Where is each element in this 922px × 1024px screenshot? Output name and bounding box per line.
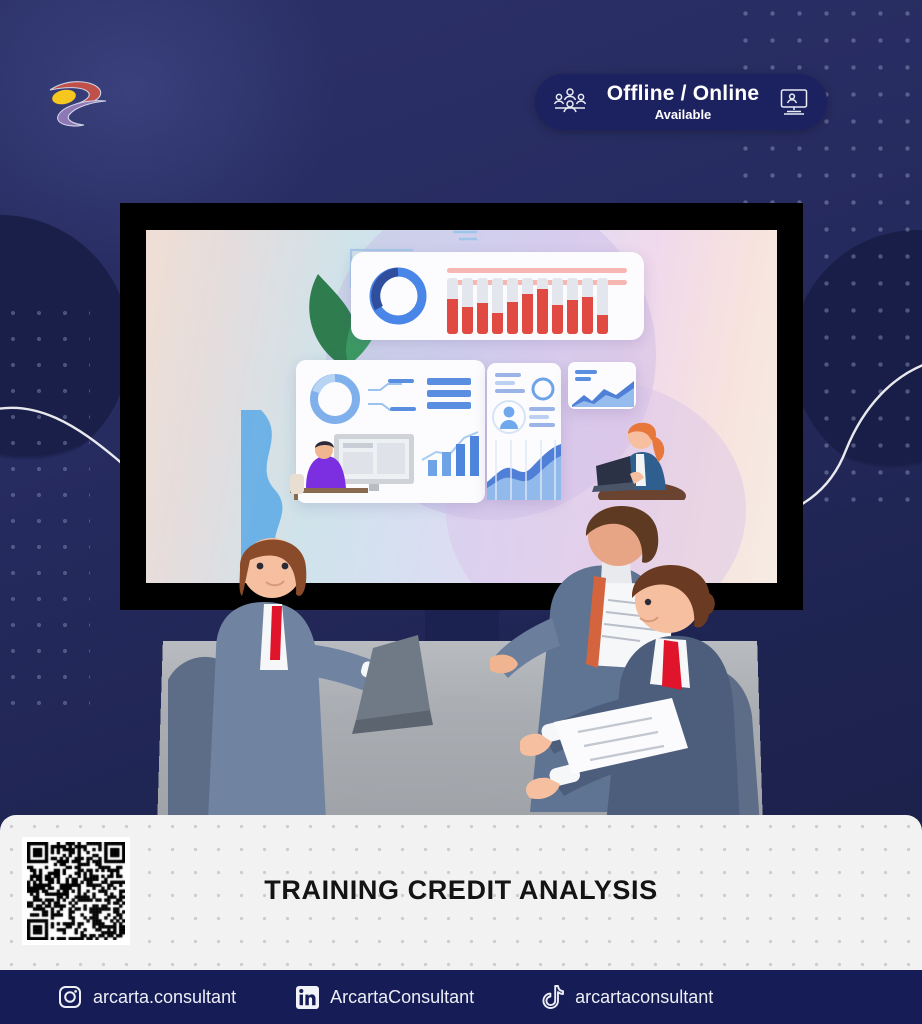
stat-line-2 <box>495 381 515 385</box>
badge-line-2: Available <box>587 108 779 122</box>
bar-segment-red <box>477 303 488 334</box>
stat-line-1 <box>495 373 521 377</box>
monitor-bezel-right <box>777 203 803 610</box>
bar-segment-grey <box>582 278 593 297</box>
legend-bar-1 <box>388 379 414 383</box>
bar-segment-grey <box>492 278 503 313</box>
bar-segment-red <box>462 307 473 334</box>
analytics-dashboard-card <box>296 360 485 503</box>
bar-segment-red <box>552 305 563 334</box>
bar-segment-red <box>597 315 608 334</box>
bar-segment-grey <box>537 278 548 289</box>
bar-segment-red <box>492 313 503 334</box>
stat-line-3 <box>495 389 525 393</box>
bar-column <box>597 278 608 334</box>
bar-column <box>462 278 473 334</box>
presenter-with-laptop <box>586 408 686 500</box>
social-item-instagram[interactable]: arcarta.consultant <box>58 985 236 1009</box>
bar-segment-red <box>507 302 518 334</box>
badge-text: Offline / Online Available <box>587 83 779 122</box>
social-footer: arcarta.consultant ArcartaConsultant arc… <box>0 970 922 1024</box>
bar-segment-red <box>567 300 578 334</box>
profile-stats-card <box>487 363 561 500</box>
tiktok-icon <box>541 985 564 1010</box>
bar-column <box>507 278 518 334</box>
bar-segment-grey <box>462 278 473 307</box>
tiktok-handle: arcartaconsultant <box>575 987 713 1008</box>
attendee-man-front <box>520 548 770 828</box>
info-line-3 <box>529 423 555 427</box>
bar-chart <box>447 274 608 334</box>
bar-column <box>552 278 563 334</box>
linkedin-icon <box>296 986 319 1009</box>
stat-bar-3 <box>427 402 471 409</box>
info-line-2 <box>529 415 549 419</box>
donut-chart-light <box>306 370 364 428</box>
bar-segment-grey <box>447 278 458 299</box>
social-item-tiktok[interactable]: arcartaconsultant <box>541 985 713 1010</box>
availability-badge[interactable]: Offline / Online Available <box>535 74 827 130</box>
instagram-handle: arcarta.consultant <box>93 987 236 1008</box>
bar-segment-red <box>447 299 458 334</box>
bar-segment-grey <box>507 278 518 302</box>
bar-column <box>492 278 503 334</box>
trend-chart-card <box>568 362 636 409</box>
avatar-icon <box>491 399 527 435</box>
area-chart <box>487 440 561 500</box>
worker-person <box>290 434 368 500</box>
badge-line-1: Offline / Online <box>587 83 779 105</box>
info-line-1 <box>529 407 555 411</box>
monitor-bezel-top <box>120 203 803 230</box>
headline-bar-1 <box>447 268 627 273</box>
bar-segment-grey <box>597 278 608 315</box>
bar-segment-grey <box>477 278 488 303</box>
trend-line-1 <box>575 370 597 374</box>
arcarta-logo <box>42 68 114 130</box>
bar-column <box>537 278 548 334</box>
bar-column <box>582 278 593 334</box>
video-call-monitor-icon <box>779 87 809 117</box>
bar-segment-grey <box>552 278 563 305</box>
bar-column <box>447 278 458 334</box>
legend-bar-2 <box>390 407 416 411</box>
bar-column <box>522 278 533 334</box>
people-meeting-icon <box>553 87 587 117</box>
bar-segment-grey <box>522 278 533 294</box>
dot-pattern-left <box>0 300 90 720</box>
bar-column <box>567 278 578 334</box>
monitor-bezel-left <box>120 203 146 610</box>
poster-canvas: Offline / Online Available <box>0 0 922 1024</box>
social-item-linkedin[interactable]: ArcartaConsultant <box>296 986 474 1009</box>
linkedin-handle: ArcartaConsultant <box>330 987 474 1008</box>
growth-bar-chart <box>420 426 480 478</box>
instagram-icon <box>58 985 82 1009</box>
attendee-woman-laptop <box>168 520 433 825</box>
bar-segment-grey <box>567 278 578 300</box>
ring-icon <box>529 375 557 403</box>
bar-segment-red <box>522 294 533 334</box>
donut-chart <box>365 263 431 329</box>
stat-bar-1 <box>427 378 471 385</box>
bar-segment-red <box>537 289 548 334</box>
page-title: TRAINING CREDIT ANALYSIS <box>0 875 922 906</box>
donut-and-bars-card <box>351 252 644 340</box>
bar-segment-red <box>582 297 593 334</box>
stat-bar-2 <box>427 390 471 397</box>
bar-column <box>477 278 488 334</box>
trend-area-chart <box>572 379 634 407</box>
